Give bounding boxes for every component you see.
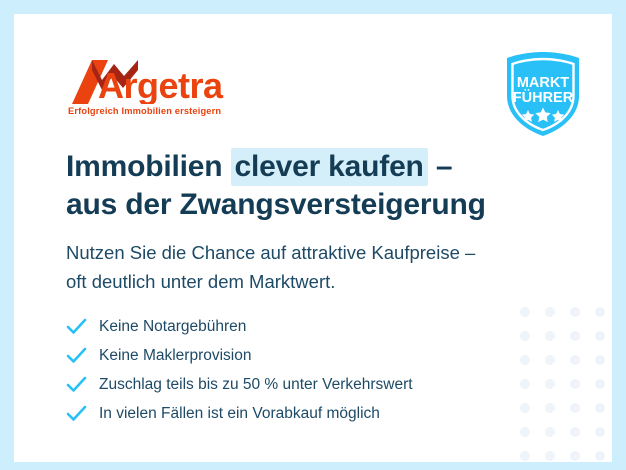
- dot-decoration: [520, 348, 545, 372]
- dot-decoration: [520, 420, 545, 444]
- dot-decoration: [520, 324, 545, 348]
- check-icon: [66, 347, 92, 364]
- dot-decoration: [570, 300, 595, 324]
- argetra-logo[interactable]: Argetra Erfolgreich Immobilien ersteiger…: [66, 58, 266, 120]
- subheadline-line-2: oft deutlich unter dem Marktwert.: [66, 267, 546, 296]
- dot-decoration: [595, 396, 612, 420]
- check-icon: [66, 376, 92, 393]
- dot-decoration: [570, 396, 595, 420]
- dot-decoration: [520, 396, 545, 420]
- badge-line2: FÜHRER: [513, 89, 574, 106]
- promo-banner: Argetra Erfolgreich Immobilien ersteiger…: [0, 0, 626, 470]
- dot-decoration: [545, 300, 570, 324]
- list-item: Keine Notargebühren: [66, 312, 506, 341]
- benefits-list: Keine Notargebühren Keine Maklerprovisio…: [66, 312, 506, 428]
- dot-decoration: [520, 372, 545, 396]
- dot-decoration: [595, 348, 612, 372]
- dot-decoration: [595, 372, 612, 396]
- list-item: Zuschlag teils bis zu 50 % unter Verkehr…: [66, 370, 506, 399]
- benefit-label: In vielen Fällen ist ein Vorabkauf mögli…: [99, 405, 380, 423]
- headline-suffix: –: [428, 150, 453, 183]
- dot-decoration: [570, 420, 595, 444]
- badge-line1: MARKT: [517, 75, 569, 91]
- shield-badge-icon: MARKT FÜHRER: [501, 50, 585, 138]
- dot-decoration: [570, 444, 595, 462]
- svg-text:Argetra: Argetra: [98, 65, 224, 104]
- argetra-a-mark-icon: Argetra: [66, 58, 266, 104]
- logo-tagline: Erfolgreich Immobilien ersteigern: [68, 106, 221, 116]
- subheadline-line-1: Nutzen Sie die Chance auf attraktive Kau…: [66, 238, 546, 267]
- headline-highlight: clever kaufen: [231, 148, 428, 186]
- check-icon: [66, 405, 92, 422]
- benefit-label: Keine Notargebühren: [99, 318, 246, 336]
- list-item: In vielen Fällen ist ein Vorabkauf mögli…: [66, 399, 506, 428]
- list-item: Keine Maklerprovision: [66, 341, 506, 370]
- dot-decoration: [545, 396, 570, 420]
- dot-decoration: [545, 348, 570, 372]
- benefit-label: Keine Maklerprovision: [99, 347, 252, 365]
- dot-decoration: [595, 300, 612, 324]
- dot-decoration: [570, 372, 595, 396]
- dot-decoration: [545, 324, 570, 348]
- headline-line-2: aus der Zwangsversteigerung: [66, 186, 536, 224]
- dot-decoration: [520, 300, 545, 324]
- banner-inner-panel: Argetra Erfolgreich Immobilien ersteiger…: [14, 14, 612, 462]
- dot-decoration: [570, 324, 595, 348]
- dot-decoration: [570, 348, 595, 372]
- headline-prefix: Immobilien: [66, 150, 231, 183]
- dot-decoration: [595, 444, 612, 462]
- dot-decoration: [595, 420, 612, 444]
- headline: Immobilien clever kaufen – aus der Zwang…: [66, 148, 536, 223]
- dot-decoration: [595, 324, 612, 348]
- dot-decoration: [545, 444, 570, 462]
- dot-decoration: [545, 420, 570, 444]
- dot-decoration: [545, 372, 570, 396]
- market-leader-badge: MARKT FÜHRER: [501, 50, 585, 138]
- dot-grid-decoration: [520, 300, 612, 462]
- subheadline: Nutzen Sie die Chance auf attraktive Kau…: [66, 238, 546, 296]
- dot-decoration: [520, 444, 545, 462]
- check-icon: [66, 318, 92, 335]
- benefit-label: Zuschlag teils bis zu 50 % unter Verkehr…: [99, 376, 413, 394]
- headline-line-1: Immobilien clever kaufen –: [66, 148, 536, 186]
